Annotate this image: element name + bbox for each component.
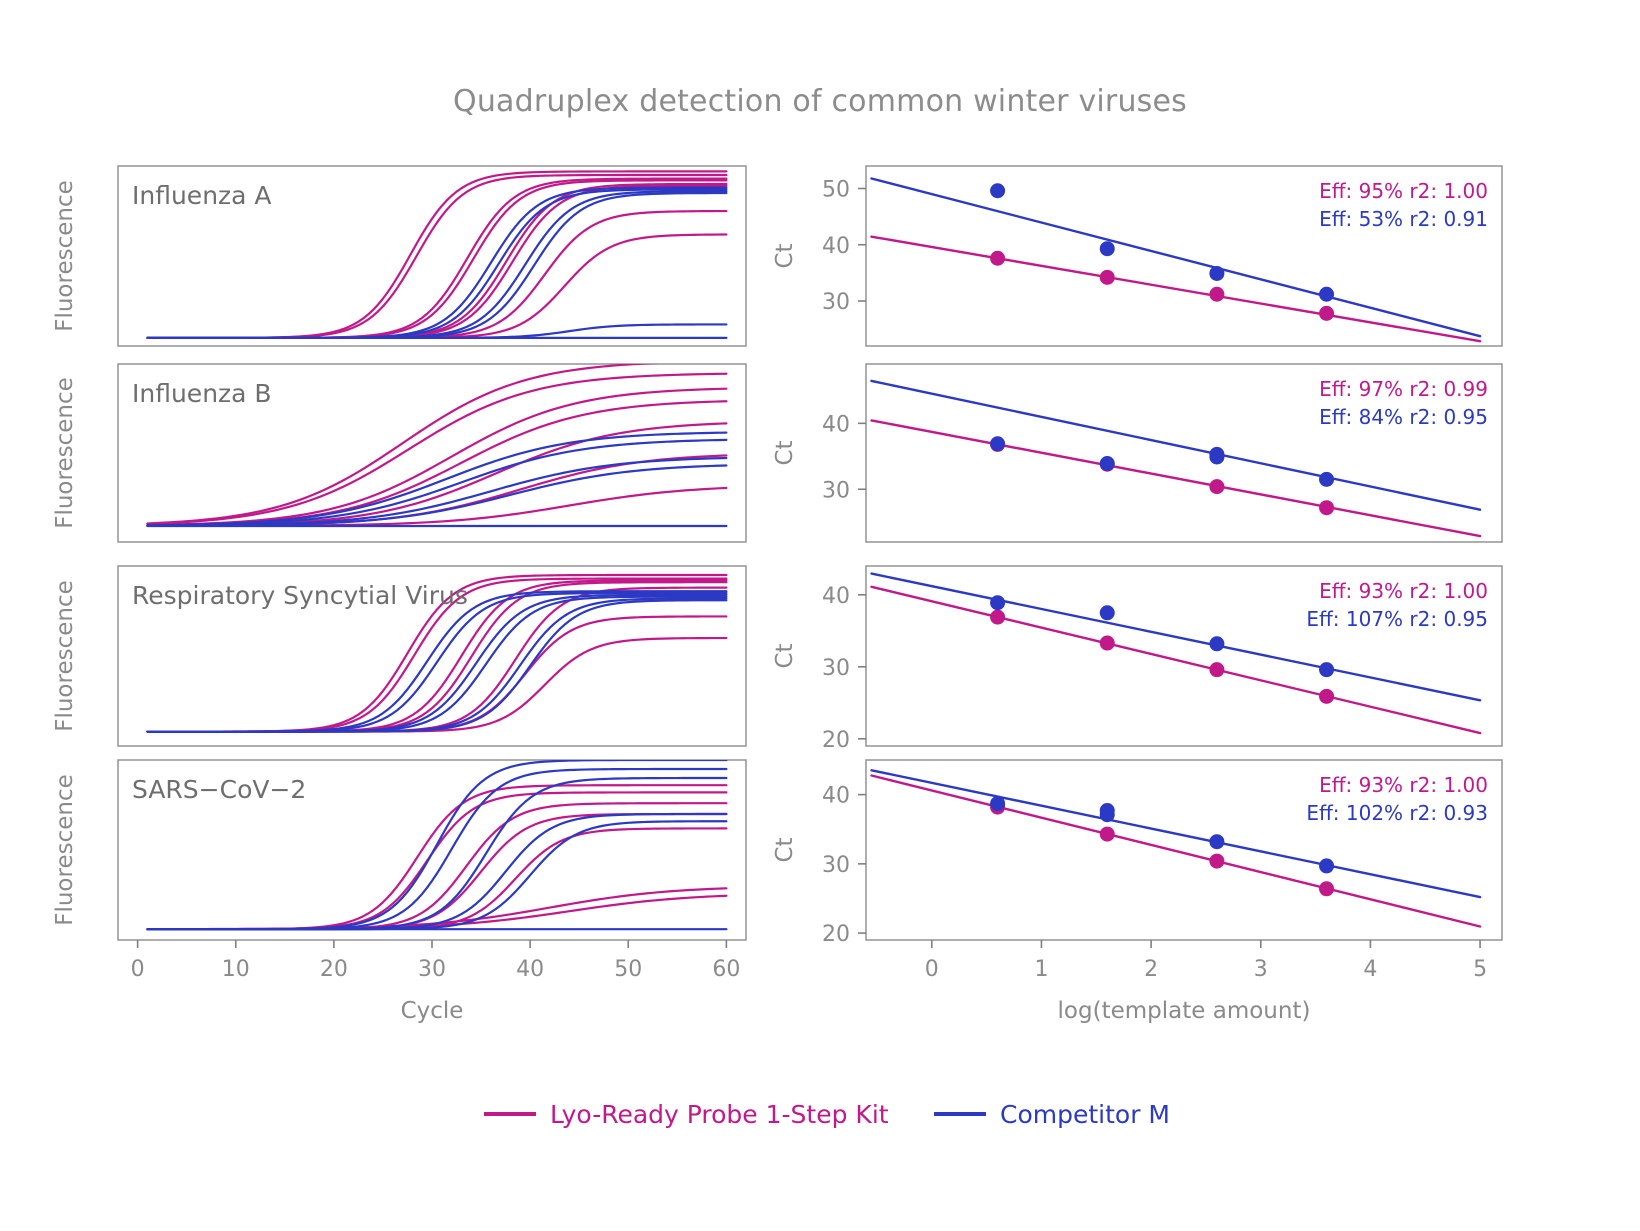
x-tick-label-30: 30	[418, 957, 446, 982]
annotation-influenza-a-std-0: Eff: 95% r2: 1.00	[1319, 179, 1488, 203]
y-tick-label-influenza-a-std-50: 50	[822, 178, 850, 203]
data-point-influenza-a-std-1-1	[1100, 241, 1115, 256]
amplification-panel-sars-cov-2: FluorescenceSARS−CoV−20102030405060Cycle	[52, 760, 746, 1024]
data-point-sars-cov-2-std-1-3	[1209, 834, 1224, 849]
data-point-sars-cov-2-std-1-4	[1319, 858, 1334, 873]
data-point-influenza-a-std-1-0	[990, 183, 1005, 198]
legend-label-0: Lyo-Ready Probe 1-Step Kit	[550, 1100, 889, 1129]
figure-title: Quadruplex detection of common winter vi…	[0, 84, 1640, 119]
x-tick-label-r-1: 1	[1034, 957, 1048, 982]
y-tick-label-rsv-std-20: 20	[822, 728, 850, 753]
y-axis-title-rsv-std: Ct	[772, 643, 798, 668]
annotation-rsv-std-0: Eff: 93% r2: 1.00	[1319, 579, 1488, 603]
x-tick-label-r-0: 0	[925, 957, 939, 982]
x-axis-title-left: Cycle	[401, 998, 464, 1024]
data-point-influenza-b-std-0-3	[1319, 500, 1334, 515]
data-point-rsv-std-0-0	[990, 610, 1005, 625]
data-point-influenza-a-std-1-2	[1209, 266, 1224, 281]
data-point-influenza-b-std-0-2	[1209, 479, 1224, 494]
y-axis-title-influenza-b-std: Ct	[772, 440, 798, 465]
data-point-rsv-std-0-1	[1100, 636, 1115, 651]
data-point-sars-cov-2-std-1-0	[990, 796, 1005, 811]
standard-curve-panel-influenza-a-std: 304050CtEff: 95% r2: 1.00Eff: 53% r2: 0.…	[772, 166, 1502, 346]
data-point-rsv-std-1-0	[990, 595, 1005, 610]
x-tick-label-60: 60	[712, 957, 740, 982]
x-tick-label-r-4: 4	[1363, 957, 1377, 982]
amplification-panel-influenza-b: FluorescenceInfluenza B	[52, 361, 746, 542]
data-point-rsv-std-0-3	[1319, 689, 1334, 704]
x-tick-label-r-2: 2	[1144, 957, 1158, 982]
data-point-rsv-std-1-1	[1100, 605, 1115, 620]
y-tick-label-influenza-b-std-30: 30	[822, 478, 850, 503]
y-axis-title-respiratory-syncytial-virus: Fluorescence	[52, 580, 78, 732]
amplification-panel-influenza-a: FluorescenceInfluenza A	[52, 166, 746, 346]
data-point-influenza-a-std-1-3	[1319, 287, 1334, 302]
y-tick-label-sars-cov-2-std-30: 30	[822, 853, 850, 878]
standard-curve-panel-rsv-std: 203040CtEff: 93% r2: 1.00Eff: 107% r2: 0…	[772, 566, 1502, 753]
x-tick-label-10: 10	[222, 957, 250, 982]
x-tick-label-20: 20	[320, 957, 348, 982]
y-tick-label-influenza-a-std-30: 30	[822, 290, 850, 315]
data-point-influenza-a-std-0-3	[1319, 306, 1334, 321]
x-axis-title-right: log(template amount)	[1058, 998, 1311, 1024]
data-point-influenza-b-std-1-4	[1319, 472, 1334, 487]
figure-root: Quadruplex detection of common winter vi…	[0, 0, 1640, 1231]
x-tick-label-r-5: 5	[1473, 957, 1487, 982]
annotation-influenza-b-std-0: Eff: 97% r2: 0.99	[1319, 377, 1488, 401]
data-point-rsv-std-0-2	[1209, 662, 1224, 677]
y-axis-title-influenza-b: Fluorescence	[52, 377, 78, 529]
x-tick-label-0: 0	[131, 957, 145, 982]
x-tick-label-r-3: 3	[1254, 957, 1268, 982]
y-axis-title-influenza-a-std: Ct	[772, 243, 798, 268]
data-point-sars-cov-2-std-0-2	[1209, 854, 1224, 869]
y-tick-label-influenza-b-std-40: 40	[822, 412, 850, 437]
y-axis-title-influenza-a: Fluorescence	[52, 180, 78, 332]
data-point-rsv-std-1-2	[1209, 636, 1224, 651]
data-point-sars-cov-2-std-0-3	[1319, 881, 1334, 896]
figure-canvas: FluorescenceInfluenza AFluorescenceInflu…	[0, 0, 1640, 1231]
y-tick-label-rsv-std-30: 30	[822, 656, 850, 681]
panel-label-influenza-b: Influenza B	[132, 379, 272, 408]
data-point-influenza-b-std-1-3	[1209, 449, 1224, 464]
data-point-influenza-a-std-0-2	[1209, 287, 1224, 302]
data-point-influenza-a-std-0-0	[990, 251, 1005, 266]
annotation-sars-cov-2-std-1: Eff: 102% r2: 0.93	[1306, 801, 1488, 825]
y-tick-label-sars-cov-2-std-20: 20	[822, 922, 850, 947]
y-axis-title-sars-cov-2-std: Ct	[772, 837, 798, 862]
annotation-influenza-b-std-1: Eff: 84% r2: 0.95	[1319, 405, 1488, 429]
amplification-panel-respiratory-syncytial-virus: FluorescenceRespiratory Syncytial Virus	[52, 566, 746, 746]
data-point-sars-cov-2-std-0-1	[1100, 827, 1115, 842]
x-tick-label-40: 40	[516, 957, 544, 982]
annotation-sars-cov-2-std-0: Eff: 93% r2: 1.00	[1319, 773, 1488, 797]
panel-label-influenza-a: Influenza A	[132, 181, 272, 210]
data-point-rsv-std-1-3	[1319, 662, 1334, 677]
figure-legend: Lyo-Ready Probe 1-Step KitCompetitor M	[484, 1100, 1170, 1129]
panel-label-sars-cov-2: SARS−CoV−2	[132, 775, 306, 804]
standard-curve-panel-influenza-b-std: 3040CtEff: 97% r2: 0.99Eff: 84% r2: 0.95	[772, 364, 1502, 542]
legend-label-1: Competitor M	[1000, 1100, 1170, 1129]
data-point-influenza-b-std-1-0	[990, 436, 1005, 451]
annotation-influenza-a-std-1: Eff: 53% r2: 0.91	[1319, 207, 1488, 231]
annotation-rsv-std-1: Eff: 107% r2: 0.95	[1306, 607, 1488, 631]
x-tick-label-50: 50	[614, 957, 642, 982]
standard-curve-panel-sars-cov-2-std: 203040CtEff: 93% r2: 1.00Eff: 102% r2: 0…	[772, 760, 1502, 1024]
y-tick-label-sars-cov-2-std-40: 40	[822, 784, 850, 809]
y-tick-label-influenza-a-std-40: 40	[822, 234, 850, 259]
data-point-influenza-b-std-1-1	[1100, 456, 1115, 471]
panel-label-respiratory-syncytial-virus: Respiratory Syncytial Virus	[132, 581, 468, 610]
data-point-influenza-a-std-0-1	[1100, 270, 1115, 285]
data-point-sars-cov-2-std-1-2	[1100, 807, 1115, 822]
y-axis-title-sars-cov-2: Fluorescence	[52, 774, 78, 926]
y-tick-label-rsv-std-40: 40	[822, 584, 850, 609]
